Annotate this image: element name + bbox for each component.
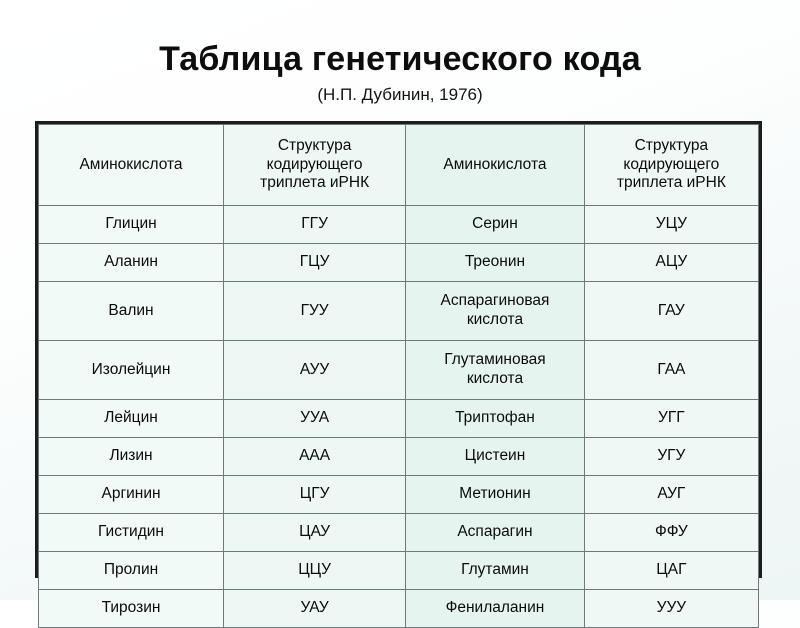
cell-amino-acid-2: Цистеин [406,438,585,476]
cell-amino-acid-1: Гистидин [39,514,224,552]
cell-amino-acid-2: Аспарагиновая кислота [406,282,585,341]
cell-amino-acid-1: Лизин [39,438,224,476]
cell-amino-acid-2: Треонин [406,244,585,282]
cell-triplet-2: АЦУ [584,244,758,282]
table-row: ПролинЦЦУГлутаминЦАГ [39,552,759,590]
slide-root: Таблица генетического кода (Н.П. Дубинин… [0,0,800,600]
cell-triplet-1: ЦЦУ [224,552,406,590]
cell-amino-acid-2: Глутаминовая кислота [406,341,585,400]
cell-amino-acid-2: Метионин [406,476,585,514]
cell-triplet-1: ЦГУ [224,476,406,514]
cell-triplet-1: ГГУ [224,206,406,244]
cell-amino-acid-2: Глутамин [406,552,585,590]
table-row: АргининЦГУМетионинАУГ [39,476,759,514]
cell-amino-acid-1: Изолейцин [39,341,224,400]
cell-amino-acid-1: Лейцин [39,400,224,438]
table-row: АланинГЦУТреонинАЦУ [39,244,759,282]
cell-amino-acid-2: Триптофан [406,400,585,438]
cell-amino-acid-1: Тирозин [39,590,224,628]
cell-amino-acid-1: Валин [39,282,224,341]
cell-amino-acid-2: Серин [406,206,585,244]
table-header-row: Аминокислота Структура кодирующего трипл… [39,125,759,206]
genetic-code-table-container: Аминокислота Структура кодирующего трипл… [35,121,762,578]
cell-triplet-1: УАУ [224,590,406,628]
column-header-amino-acid-2: Аминокислота [406,125,585,206]
cell-triplet-2: УЦУ [584,206,758,244]
table-row: ИзолейцинАУУГлутаминовая кислотаГАА [39,341,759,400]
column-header-triplet-2: Структура кодирующего триплета иРНК [584,125,758,206]
column-header-triplet-1: Структура кодирующего триплета иРНК [224,125,406,206]
cell-triplet-2: УГУ [584,438,758,476]
cell-triplet-2: УУУ [584,590,758,628]
table-row: ВалинГУУАспарагиновая кислотаГАУ [39,282,759,341]
cell-amino-acid-1: Аргинин [39,476,224,514]
table-row: ЛейцинУУАТриптофанУГГ [39,400,759,438]
page-title: Таблица генетического кода [0,40,800,78]
table-row: ГистидинЦАУАспарагинФФУ [39,514,759,552]
cell-triplet-1: АУУ [224,341,406,400]
cell-amino-acid-2: Аспарагин [406,514,585,552]
cell-triplet-2: ГАУ [584,282,758,341]
table-row: ГлицинГГУСеринУЦУ [39,206,759,244]
cell-triplet-1: ГУУ [224,282,406,341]
cell-triplet-2: ЦАГ [584,552,758,590]
cell-triplet-2: АУГ [584,476,758,514]
cell-triplet-1: ГЦУ [224,244,406,282]
cell-triplet-1: ААА [224,438,406,476]
page-subtitle: (Н.П. Дубинин, 1976) [0,85,800,105]
table-body: ГлицинГГУСеринУЦУАланинГЦУТреонинАЦУВали… [39,206,759,628]
cell-triplet-1: ЦАУ [224,514,406,552]
cell-amino-acid-1: Пролин [39,552,224,590]
table-row: ЛизинАААЦистеинУГУ [39,438,759,476]
title-block: Таблица генетического кода (Н.П. Дубинин… [0,40,800,105]
cell-triplet-1: УУА [224,400,406,438]
cell-triplet-2: УГГ [584,400,758,438]
cell-amino-acid-1: Глицин [39,206,224,244]
cell-amino-acid-1: Аланин [39,244,224,282]
table-row: ТирозинУАУФенилаланинУУУ [39,590,759,628]
cell-triplet-2: ГАА [584,341,758,400]
cell-triplet-2: ФФУ [584,514,758,552]
table-header: Аминокислота Структура кодирующего трипл… [39,125,759,206]
cell-amino-acid-2: Фенилаланин [406,590,585,628]
genetic-code-table: Аминокислота Структура кодирующего трипл… [38,124,759,628]
column-header-amino-acid-1: Аминокислота [39,125,224,206]
